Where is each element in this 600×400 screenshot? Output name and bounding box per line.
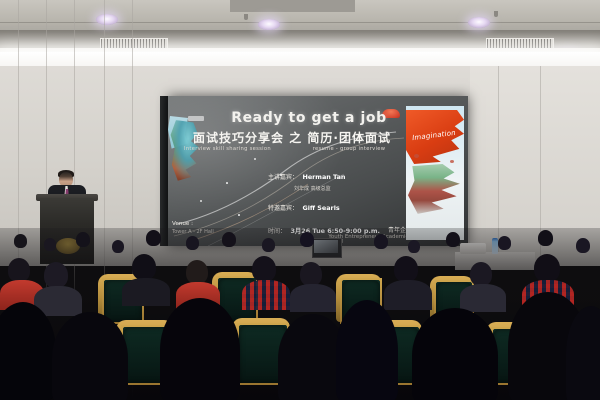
audience-foreground-person — [160, 298, 240, 400]
audience-head — [146, 230, 161, 246]
slide-detail-row: 特邀嘉宾： Giff Searls — [268, 197, 413, 215]
audience-head — [186, 260, 208, 284]
audience-head — [222, 232, 236, 247]
audience-head — [252, 256, 276, 282]
audience-area — [0, 228, 600, 400]
audience-head — [300, 232, 314, 247]
audience-shoulders — [242, 280, 290, 310]
audience-shoulders — [384, 280, 432, 310]
audience-head — [446, 232, 460, 247]
sprinkler-icon — [494, 11, 498, 17]
slide-spark-dot — [200, 200, 202, 202]
lecture-hall-scene: Ready to get a job 面试技巧分享会 之 简历·团体面试 Int… — [0, 0, 600, 400]
detail-sub: 刘华成 高级总监 — [294, 185, 413, 192]
detail-value: Giff Searls — [302, 204, 339, 212]
slide-spark-dot — [254, 158, 256, 160]
audience-head — [470, 262, 492, 286]
detail-label: 特邀嘉宾： — [268, 205, 298, 212]
poster-lower-splat — [408, 164, 462, 216]
poster-drip-dot — [414, 154, 419, 158]
audience-foreground-person — [336, 300, 398, 400]
poster-drip-dot — [450, 160, 454, 163]
audience-shoulders — [290, 284, 336, 312]
ceiling-seam — [0, 22, 600, 23]
audience-head — [44, 238, 56, 251]
slide-detail-row: 主讲嘉宾： Herman Tan 刘华成 高级总监 — [268, 166, 413, 192]
slide-subtitle-english-left: Interview skill sharing session — [184, 146, 292, 152]
slide-venue-label-en: Venue : — [172, 221, 193, 227]
audience-head — [408, 240, 420, 253]
ceiling-downlight-icon — [258, 19, 280, 30]
detail-value: Herman Tan — [302, 173, 345, 181]
audience-head — [8, 258, 30, 282]
sprinkler-icon — [244, 14, 248, 20]
audience-foreground-person — [0, 302, 56, 400]
ceiling-downlight-icon — [468, 17, 490, 28]
ceiling-recess-panel — [230, 0, 355, 12]
slide-title-chinese: 面试技巧分享会 之 简历·团体面试 — [184, 129, 400, 146]
audience-head — [394, 256, 418, 282]
audience-head — [186, 236, 199, 250]
slide-spark-dot — [238, 214, 240, 216]
slide-subtitle-english-right: resume - group interview — [296, 146, 402, 152]
detail-label: 主讲嘉宾： — [268, 174, 298, 181]
audience-head — [112, 240, 124, 253]
intel-watermark-icon — [188, 116, 204, 121]
audience-head — [576, 238, 590, 253]
audience-head — [14, 234, 27, 248]
audience-foreground-person — [52, 312, 128, 400]
audience-shoulders — [460, 284, 506, 312]
audience-head — [44, 262, 68, 288]
audience-head — [374, 234, 388, 249]
audience-head — [498, 236, 511, 250]
audience-head — [132, 254, 156, 280]
slide-imagination-poster: Imagination — [406, 106, 464, 240]
projection-screen: Ready to get a job 面试技巧分享会 之 简历·团体面试 Int… — [168, 96, 468, 246]
audience-head — [538, 230, 553, 246]
slide-title: Ready to get a job — [214, 110, 404, 126]
audience-head — [300, 262, 322, 286]
slide-spark-dot — [226, 182, 228, 184]
audience-head — [76, 232, 90, 247]
audience-head — [262, 238, 275, 252]
ceiling-downlight-icon — [96, 14, 118, 25]
audience-head — [534, 254, 560, 282]
projected-slide: Ready to get a job 面试技巧分享会 之 简历·团体面试 Int… — [168, 96, 468, 246]
audience-shoulders — [122, 278, 170, 306]
audience-foreground-person — [412, 308, 498, 400]
